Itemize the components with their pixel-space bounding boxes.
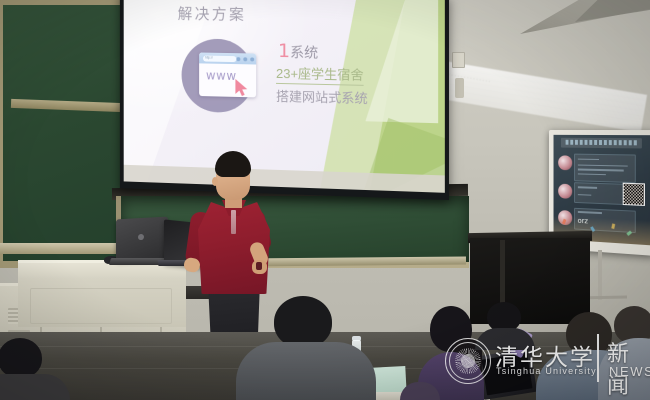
chalkboard-left [0,0,133,268]
secondary-screen-surface: orz [554,135,650,245]
screenshot-root: · · · · · · · · · · · · · · · · · · 解决方案 [0,0,650,400]
wall-switch-plate [452,52,465,68]
laptop-left[interactable] [116,217,168,262]
presentation-clicker[interactable] [256,262,262,270]
browser-dot-icon [250,57,254,61]
browser-dot-icon [236,57,240,61]
avatar [558,184,572,199]
presenter-ear [212,177,218,186]
tablet-device[interactable] [477,348,537,400]
secondary-screen-header [561,138,642,148]
browser-window-icon: http:// www [199,52,256,97]
chalkboard-left-surface [3,5,127,261]
browser-dot-icon [243,57,247,61]
presenter-hair [215,151,251,177]
tablet-screen [481,353,532,396]
slide-line-1-text: 系统 [290,44,318,61]
slide-line-2: 23+座学生宿舍 [276,63,364,86]
browser-url-text: http:// [205,55,213,59]
laptop-logo [138,234,144,240]
slide-line-1-number: 1 [278,40,290,62]
slide-line-1: 1系统 [278,40,318,63]
browser-url-field: http:// [203,55,236,62]
browser-titlebar: http:// [199,52,256,64]
presenter-placket [231,210,236,234]
slide-title: 解决方案 [178,3,247,25]
slide-line-3: 搭建网站式系统 [276,86,368,107]
avatar [558,156,572,171]
chalkboard-left-tray [0,243,122,254]
qr-code [623,183,645,206]
screen-tripod-pole [598,250,602,300]
browser-body-text: www [206,68,237,83]
podium-front-panel [30,288,172,324]
wall-outlet-plate [455,78,464,98]
